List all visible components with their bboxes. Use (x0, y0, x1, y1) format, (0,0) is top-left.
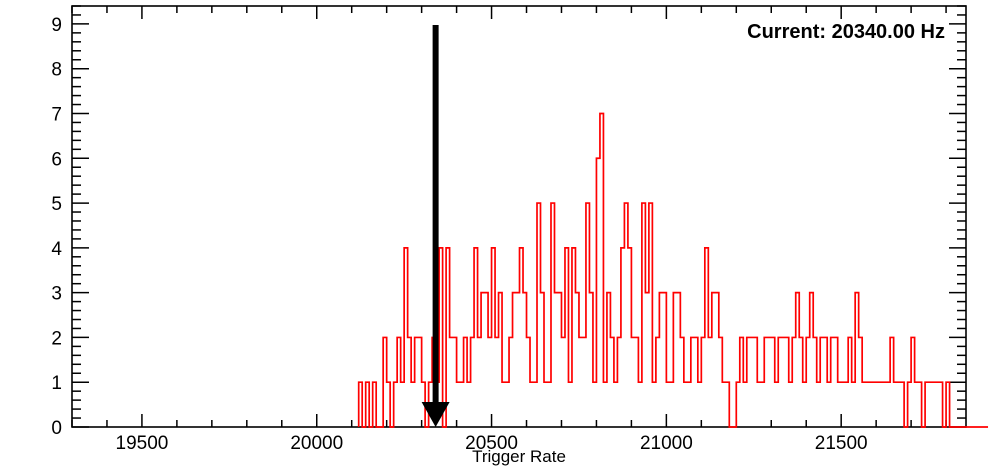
y-axis-ticks (72, 6, 966, 427)
histogram-canvas: 0123456789 1950020000205002100021500 Tri… (0, 0, 996, 472)
x-tick-label: 19500 (116, 433, 169, 454)
y-tick-label: 6 (51, 149, 62, 170)
y-tick-label: 4 (51, 239, 62, 260)
y-tick-label: 0 (51, 418, 62, 439)
y-tick-label: 1 (51, 373, 62, 394)
current-rate-readout: Current: 20340.00 Hz (747, 21, 945, 43)
x-tick-label: 21000 (640, 433, 693, 454)
histogram-outline (359, 113, 988, 427)
trigger-rate-histogram-plot: 0123456789 1950020000205002100021500 Tri… (0, 0, 996, 472)
x-axis-title: Trigger Rate (472, 447, 566, 466)
y-tick-label: 3 (51, 284, 62, 305)
y-axis-tick-labels: 0123456789 (51, 15, 62, 439)
y-tick-label: 2 (51, 328, 62, 349)
histogram-series (359, 113, 988, 427)
y-tick-label: 9 (51, 15, 62, 36)
y-tick-label: 8 (51, 60, 62, 81)
frame-rectangle (72, 6, 966, 427)
y-tick-label: 5 (51, 194, 62, 215)
y-tick-label: 7 (51, 104, 62, 125)
x-tick-label: 20000 (290, 433, 343, 454)
plot-frame (72, 6, 966, 427)
x-tick-label: 21500 (815, 433, 868, 454)
